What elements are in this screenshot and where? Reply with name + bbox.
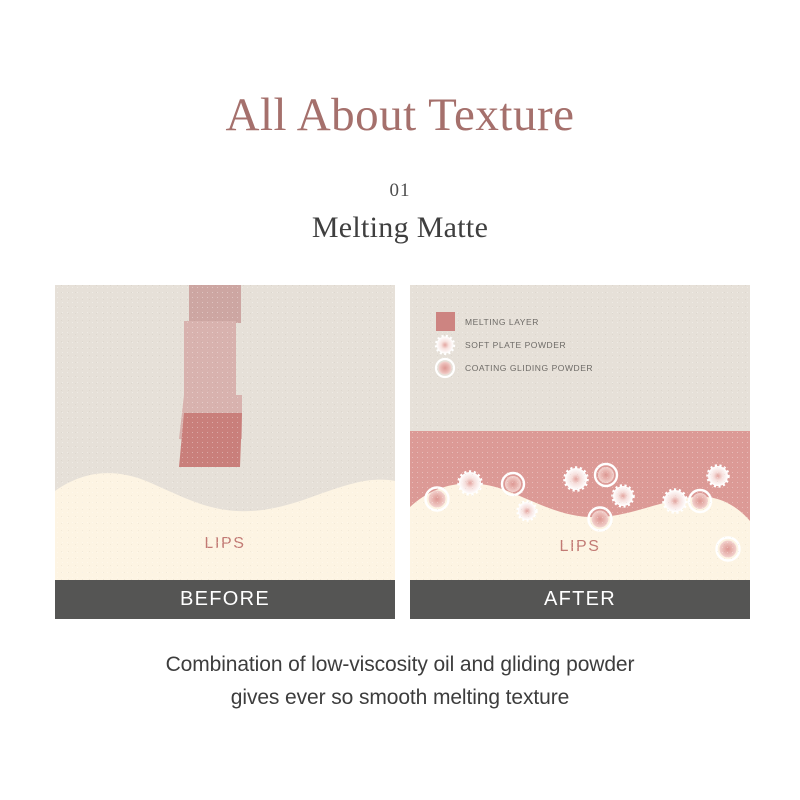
legend-item: MELTING LAYER	[434, 310, 593, 333]
after-caption: AFTER	[410, 580, 750, 619]
ring-particle	[689, 490, 711, 512]
ring-particle-icon	[434, 357, 456, 379]
ring-particle	[595, 464, 617, 486]
footer-line-1: Combination of low-viscosity oil and gli…	[0, 648, 800, 681]
header: All About Texture 01 Melting Matte	[0, 0, 800, 243]
ring-particle	[426, 488, 449, 511]
legend: MELTING LAYER	[434, 310, 593, 379]
lips-label-before: LIPS	[55, 535, 395, 553]
legend-label: COATING GLIDING POWDER	[465, 363, 593, 373]
lips-label-after: LIPS	[410, 538, 750, 556]
lips-surface	[55, 473, 395, 580]
starburst-particle-icon	[434, 334, 456, 356]
legend-item: COATING GLIDING POWDER	[434, 356, 593, 379]
before-caption: BEFORE	[55, 580, 395, 619]
after-stage: MELTING LAYER	[410, 285, 750, 580]
after-panel: MELTING LAYER	[410, 285, 750, 619]
legend-label: MELTING LAYER	[465, 317, 539, 327]
square-swatch-icon	[434, 311, 456, 333]
before-panel: LIPS BEFORE	[55, 285, 395, 619]
before-stage: LIPS	[55, 285, 395, 580]
ring-particle	[502, 473, 524, 495]
step-title: Melting Matte	[0, 200, 800, 243]
page-title: All About Texture	[0, 0, 800, 139]
step-number: 01	[0, 139, 800, 200]
legend-label: SOFT PLATE POWDER	[465, 340, 566, 350]
footer-line-2: gives ever so smooth melting texture	[0, 681, 800, 714]
legend-item: SOFT PLATE POWDER	[434, 333, 593, 356]
ring-particle	[589, 508, 612, 531]
comparison-panels: LIPS BEFORE	[55, 285, 750, 619]
footer-caption: Combination of low-viscosity oil and gli…	[0, 648, 800, 714]
lipstick-applicator	[179, 285, 242, 467]
